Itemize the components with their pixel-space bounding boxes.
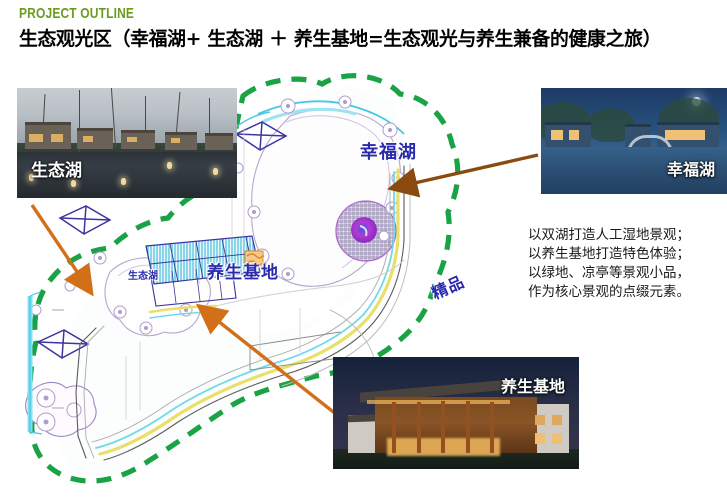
photo-caption-eco-lake: 生态湖 [31, 156, 82, 181]
photo-wellness-base[interactable]: 养生基地 [333, 357, 579, 469]
description-block: 以双湖打造人工湿地景观； 以养生基地打造特色体验； 以绿地、凉亭等景观小品， 作… [528, 226, 724, 302]
photo-caption-happy-lake: 幸福湖 [667, 156, 715, 180]
window [552, 415, 562, 425]
page-title: 生态观光区（幸福湖+ 生态湖 ＋ 养生基地=生态观光与养生兼备的健康之旅） [19, 24, 661, 51]
section-kicker: PROJECT OUTLINE [19, 5, 134, 22]
eave-light [367, 400, 510, 404]
column [441, 401, 445, 454]
lamp-icon [167, 162, 172, 169]
photo-caption-wellness-base: 养生基地 [501, 373, 565, 397]
house-icon [205, 133, 233, 150]
window [171, 138, 180, 143]
orange-marker [245, 251, 263, 267]
lamp-icon [121, 178, 126, 185]
window [665, 130, 705, 140]
slide-header: PROJECT OUTLINE 生态观光区（幸福湖+ 生态湖 ＋ 养生基地=生态… [0, 0, 727, 60]
column [490, 402, 494, 454]
window [51, 134, 63, 142]
window [551, 130, 563, 140]
window [535, 415, 545, 425]
window [29, 134, 43, 142]
description-line-4: 作为核心景观的点缀元素。 [528, 283, 724, 302]
column [392, 402, 396, 454]
window [552, 433, 562, 444]
lamp-icon [213, 168, 218, 175]
slide-root: PROJECT OUTLINE 生态观光区（幸福湖+ 生态湖 ＋ 养生基地=生态… [0, 0, 727, 504]
column [466, 401, 470, 454]
photo-eco-lake[interactable]: 生态湖 [17, 88, 237, 198]
description-line-3: 以绿地、凉亭等景观小品， [528, 264, 724, 283]
description-line-1: 以双湖打造人工湿地景观； [528, 226, 724, 245]
description-line-2: 以养生基地打造特色体验； [528, 245, 724, 264]
window [569, 130, 579, 140]
window [83, 136, 93, 142]
column [417, 402, 421, 454]
window [127, 137, 137, 142]
photo-happy-lake[interactable]: 幸福湖 [541, 88, 727, 194]
house-icon [165, 132, 197, 150]
window [535, 433, 545, 444]
lamp-icon [71, 180, 76, 187]
